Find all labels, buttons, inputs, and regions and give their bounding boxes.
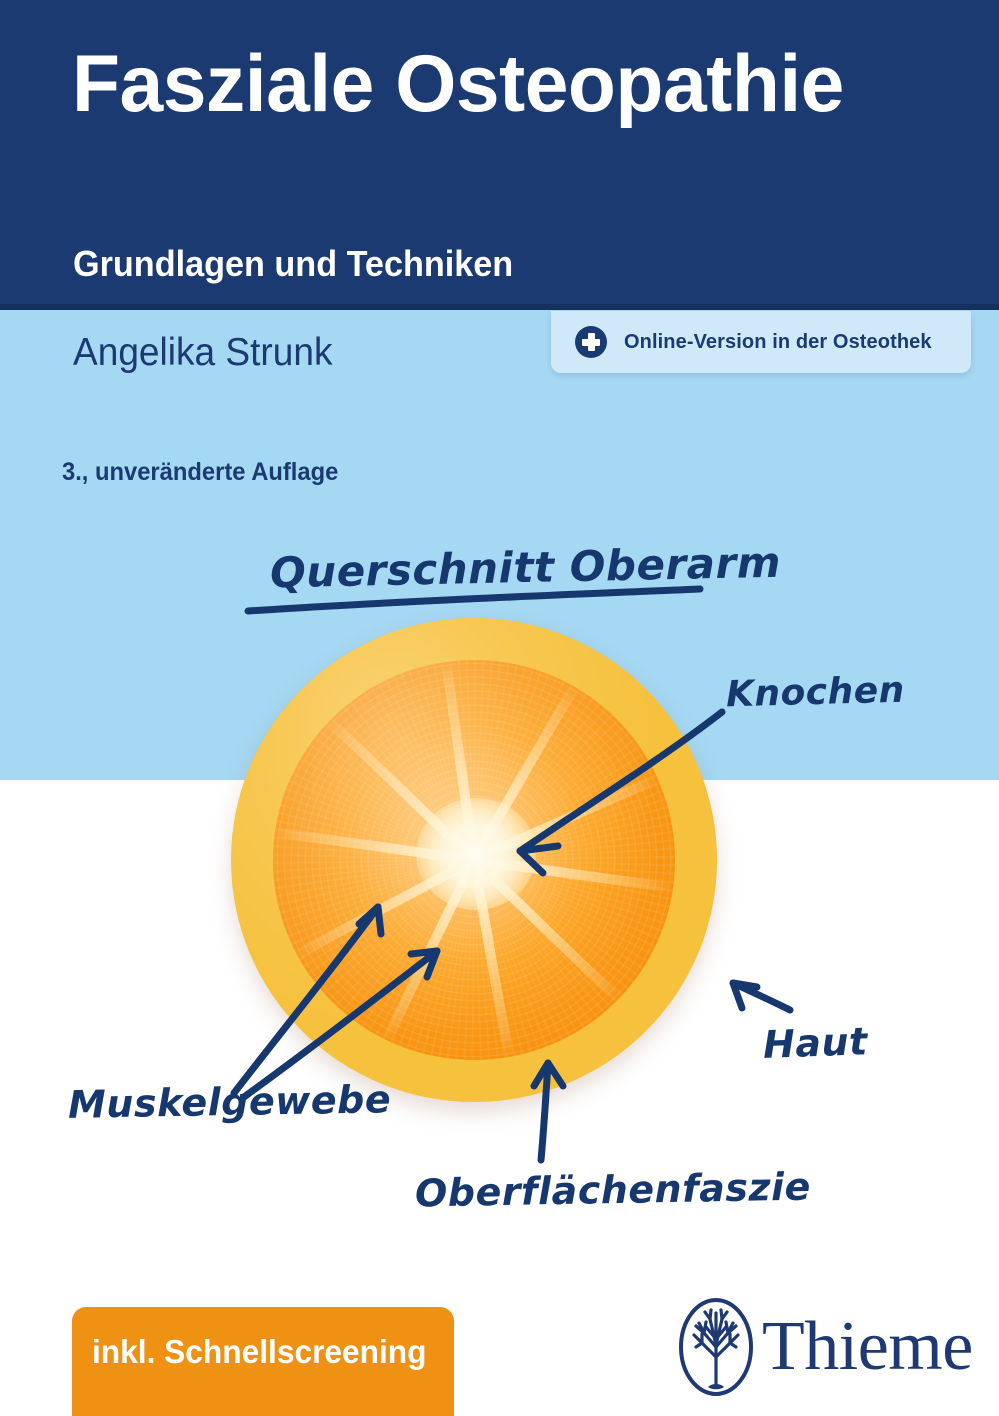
plus-circle-icon bbox=[575, 326, 607, 358]
annotation-muskelgewebe: Muskelgewebe bbox=[68, 1077, 392, 1127]
book-cover: Fasziale Osteopathie Grundlagen und Tech… bbox=[0, 0, 999, 1416]
online-version-badge-label: Online-Version in der Osteothek bbox=[624, 331, 932, 354]
page-title: Fasziale Osteopathie bbox=[72, 42, 926, 127]
edition-note: 3., unveränderte Auflage bbox=[62, 458, 338, 487]
book-subtitle: Grundlagen und Techniken bbox=[73, 243, 513, 285]
online-version-badge[interactable]: Online-Version in der Osteothek bbox=[551, 311, 971, 373]
tree-in-oval-icon bbox=[676, 1295, 756, 1399]
annotation-oberflaechenfaszie: Oberflächenfaszie bbox=[415, 1165, 812, 1216]
annotation-haut: Haut bbox=[762, 1019, 868, 1067]
publisher-logo: Thieme bbox=[676, 1295, 973, 1399]
orange-gloss bbox=[231, 618, 717, 1102]
author-name: Angelika Strunk bbox=[73, 331, 332, 375]
annotation-knochen: Knochen bbox=[725, 670, 905, 716]
orange-slice-photo bbox=[231, 618, 717, 1102]
publisher-wordmark: Thieme bbox=[762, 1312, 973, 1382]
screening-banner-label: inkl. Schnellscreening bbox=[92, 1333, 427, 1371]
screening-banner: inkl. Schnellscreening bbox=[72, 1307, 454, 1416]
